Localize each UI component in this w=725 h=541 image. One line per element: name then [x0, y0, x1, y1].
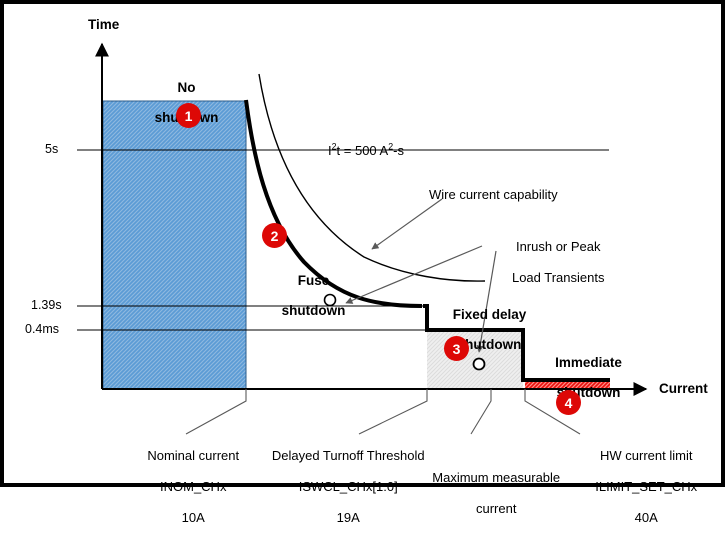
delayed-line2: ISWCL_CHx[1:0] [299, 479, 398, 494]
badge-3: 3 [444, 336, 469, 361]
maxmeas-line1: Maximum measurable [432, 470, 560, 485]
region-label-immediate: Immediate shutdown [527, 340, 635, 416]
fuse-shutdown-line1: Fuse [298, 273, 330, 288]
fuse-shutdown-line2: shutdown [282, 303, 346, 318]
leader-wire-capability [372, 199, 442, 249]
y-tick-5s: 5s [45, 142, 58, 156]
badge-2: 2 [262, 223, 287, 248]
inrush-line1: Inrush or Peak [516, 239, 601, 254]
region-label-no-shutdown: No shutdown [134, 65, 224, 141]
annotation-wire-capability: Wire current capability [429, 187, 558, 202]
region-label-fuse-shutdown: Fuse shutdown [256, 258, 356, 334]
footnote-max-measurable: Maximum measurable current [409, 454, 569, 532]
hwlimit-line1: HW current limit [600, 448, 692, 463]
annotation-i2t-equation: I2t = 500 A2-s [328, 143, 404, 158]
no-shutdown-line1: No [178, 80, 196, 95]
region-no-shutdown [103, 101, 246, 389]
x-axis-title: Current [659, 381, 708, 396]
i2t-suffix: -s [393, 143, 404, 158]
hwlimit-line2: ILIMIT_SET_CHx [595, 479, 697, 494]
y-tick-1p39s: 1.39s [31, 298, 62, 312]
delayed-line1: Delayed Turnoff Threshold [272, 448, 425, 463]
nominal-line2: INOM_CHx [160, 479, 226, 494]
diagram-frame: Time Current 5s 1.39s 0.4ms No shutdown … [0, 0, 725, 487]
diagram-canvas [4, 4, 725, 491]
y-tick-0p4ms: 0.4ms [25, 322, 59, 336]
leader-max-measurable [471, 389, 491, 434]
annotation-inrush: Inrush or Peak Load Transients [486, 224, 616, 301]
leader-delayed-threshold [359, 389, 427, 434]
delayed-line3: 19A [337, 510, 360, 525]
region-label-fixed-delay: Fixed delay shutdown [426, 292, 538, 368]
badge-4: 4 [556, 390, 581, 415]
y-axis-title: Time [88, 17, 119, 32]
hwlimit-line3: 40A [635, 510, 658, 525]
i2t-mid: t = 500 A [337, 143, 389, 158]
badge-1: 1 [176, 103, 201, 128]
no-shutdown-fill [103, 101, 246, 389]
nominal-line1: Nominal current [147, 448, 239, 463]
inrush-line2: Load Transients [512, 270, 605, 285]
immediate-line1: Immediate [555, 355, 622, 370]
fixed-delay-line1: Fixed delay [453, 307, 527, 322]
leader-nominal-current [186, 389, 246, 434]
nominal-line3: 10A [182, 510, 205, 525]
maxmeas-line2: current [476, 501, 516, 516]
